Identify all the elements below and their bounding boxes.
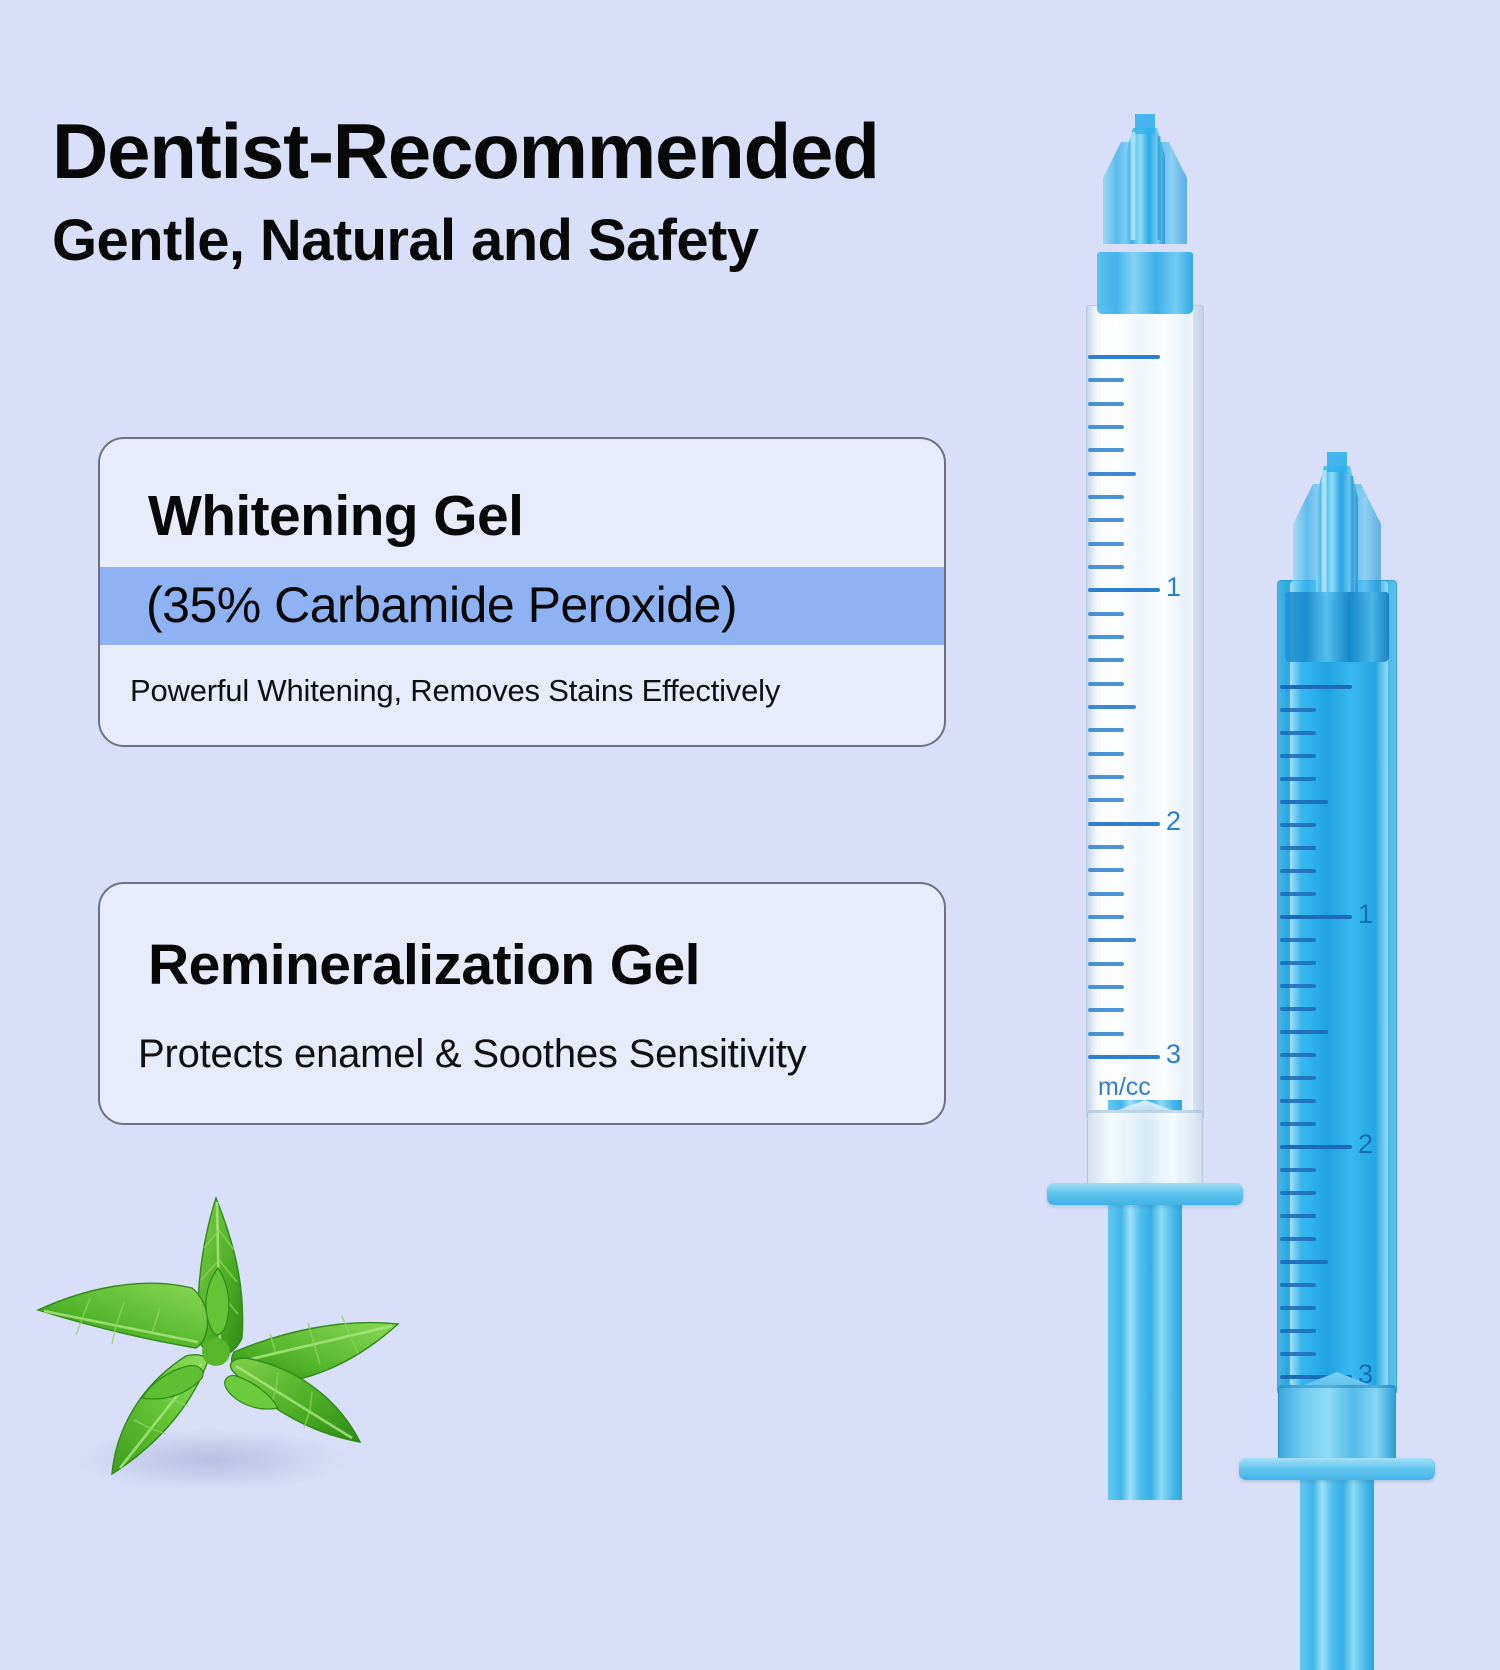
graduation-tick-minor	[1088, 1032, 1124, 1036]
graduation-tick-minor	[1280, 892, 1316, 896]
card-highlight-text: (35% Carbamide Peroxide)	[146, 576, 944, 634]
graduation-tick-minor	[1088, 425, 1124, 429]
graduation-tick-minor	[1280, 1306, 1316, 1310]
card-title-whitening: Whitening Gel	[148, 483, 944, 549]
graduation-tick-minor	[1088, 542, 1124, 546]
syringe-shoulder-collar	[1285, 592, 1389, 662]
graduation-tick-minor	[1088, 378, 1124, 382]
graduation-tick-minor	[1280, 754, 1316, 758]
graduation-tick-minor	[1280, 846, 1316, 850]
graduation-tick-minor	[1280, 1053, 1316, 1057]
graduation-tick-minor	[1280, 1076, 1316, 1080]
graduation-tick-major	[1088, 588, 1160, 592]
graduation-tick-minor	[1280, 1352, 1316, 1356]
remineralization-gel-syringe: 123m/cc	[1232, 440, 1442, 1510]
graduation-tick-minor	[1088, 658, 1124, 662]
graduation-tick-minor	[1280, 708, 1316, 712]
graduation-tick-mid	[1280, 1030, 1328, 1034]
syringe-finger-flange	[1047, 1183, 1243, 1205]
graduation-tick-minor	[1280, 1099, 1316, 1103]
graduation-tick-minor	[1088, 868, 1124, 872]
graduation-number-label: 1	[1358, 901, 1373, 928]
graduation-tick-minor	[1088, 728, 1124, 732]
graduation-number-label: 2	[1166, 808, 1181, 835]
headline-block: Dentist-Recommended Gentle, Natural and …	[52, 112, 1112, 270]
headline-primary: Dentist-Recommended	[52, 112, 1112, 190]
feature-card-whitening-gel: Whitening Gel (35% Carbamide Peroxide) P…	[98, 437, 946, 747]
graduation-number-label: 2	[1358, 1131, 1373, 1158]
graduation-tick-minor	[1088, 1008, 1124, 1012]
graduation-tick-minor	[1280, 1329, 1316, 1333]
graduation-tick-minor	[1088, 775, 1124, 779]
syringe-cap-nozzle	[1099, 112, 1191, 272]
graduation-tick-major	[1088, 1055, 1160, 1059]
graduation-tick-minor	[1280, 731, 1316, 735]
graduation-tick-minor	[1280, 1168, 1316, 1172]
graduation-tick-minor	[1088, 448, 1124, 452]
mint-leaves-icon	[20, 1180, 420, 1510]
graduation-tick-minor	[1088, 635, 1124, 639]
graduation-tick-minor	[1088, 985, 1124, 989]
graduation-tick-minor	[1088, 892, 1124, 896]
syringe-plunger-stopper	[1278, 1385, 1396, 1463]
card-highlight-band: (35% Carbamide Peroxide)	[100, 567, 944, 645]
graduation-tick-minor	[1280, 1007, 1316, 1011]
graduation-number-label: 1	[1166, 574, 1181, 601]
graduation-tick-minor	[1280, 777, 1316, 781]
graduation-tick-minor	[1280, 869, 1316, 873]
feature-card-remineralization-gel: Remineralization Gel Protects enamel & S…	[98, 882, 946, 1125]
graduation-tick-major	[1088, 355, 1160, 359]
graduation-tick-minor	[1280, 823, 1316, 827]
graduation-tick-minor	[1088, 495, 1124, 499]
graduation-tick-minor	[1088, 845, 1124, 849]
graduation-tick-mid	[1280, 1260, 1328, 1264]
graduation-tick-minor	[1280, 1237, 1316, 1241]
graduation-tick-minor	[1088, 565, 1124, 569]
graduation-tick-minor	[1088, 915, 1124, 919]
graduation-tick-minor	[1088, 402, 1124, 406]
whitening-gel-syringe: 123m/cc	[1040, 100, 1250, 1500]
graduation-tick-minor	[1280, 1214, 1316, 1218]
graduation-tick-major	[1088, 822, 1160, 826]
graduation-tick-mid	[1088, 938, 1136, 942]
card-subtitle-remineralization: Protects enamel & Soothes Sensitivity	[138, 1032, 944, 1077]
card-title-remineralization: Remineralization Gel	[148, 932, 944, 998]
graduation-tick-major	[1280, 1145, 1352, 1149]
graduation-tick-minor	[1088, 798, 1124, 802]
graduation-tick-mid	[1088, 472, 1136, 476]
graduation-tick-minor	[1280, 1122, 1316, 1126]
card-subtitle-whitening: Powerful Whitening, Removes Stains Effec…	[130, 673, 944, 709]
graduation-tick-mid	[1280, 800, 1328, 804]
graduation-tick-minor	[1088, 612, 1124, 616]
graduation-number-label: 3	[1166, 1041, 1181, 1068]
syringe-plunger-stopper	[1087, 1110, 1203, 1190]
graduation-tick-minor	[1280, 1283, 1316, 1287]
headline-secondary: Gentle, Natural and Safety	[52, 212, 1112, 270]
graduation-tick-minor	[1088, 962, 1124, 966]
graduation-tick-major	[1280, 915, 1352, 919]
graduation-unit-label: m/cc	[1098, 1075, 1151, 1100]
graduation-tick-minor	[1088, 752, 1124, 756]
graduation-tick-minor	[1088, 518, 1124, 522]
graduation-tick-minor	[1088, 682, 1124, 686]
syringe-finger-flange	[1239, 1458, 1435, 1480]
graduation-tick-minor	[1280, 984, 1316, 988]
graduation-tick-major	[1280, 685, 1352, 689]
graduation-tick-mid	[1088, 705, 1136, 709]
graduation-tick-minor	[1280, 1191, 1316, 1195]
graduation-tick-minor	[1280, 961, 1316, 965]
graduation-tick-minor	[1280, 938, 1316, 942]
